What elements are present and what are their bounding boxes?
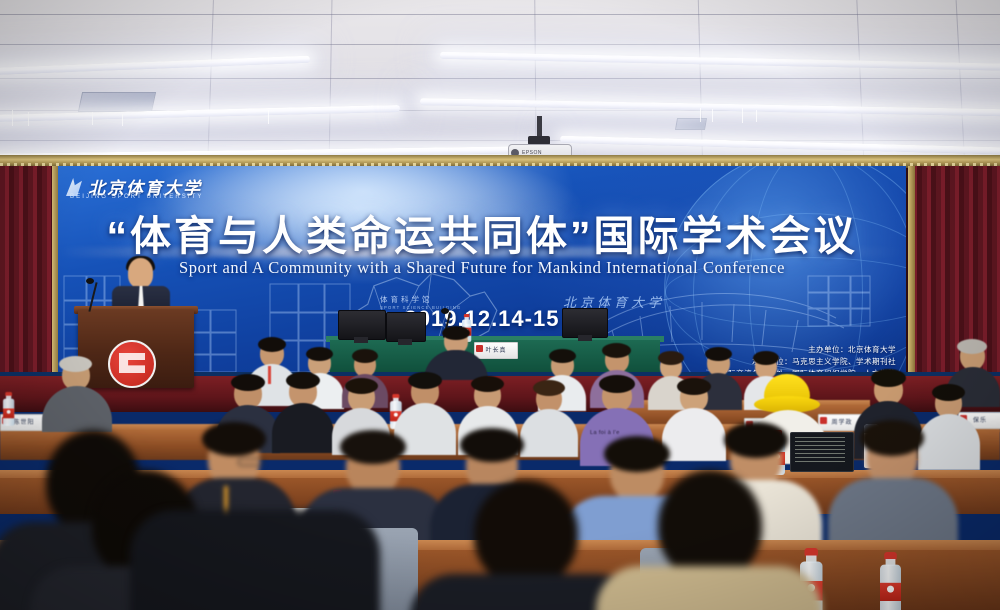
- speaker-head: [128, 258, 153, 288]
- microphone-head-icon: [441, 308, 449, 314]
- ceiling-light: [0, 56, 310, 76]
- bsu-logo-en: BEIJING SPORT UNIVERSITY: [70, 194, 204, 200]
- ceiling-vent: [675, 118, 707, 130]
- ceiling-light: [560, 136, 1000, 156]
- bucket-hat: [754, 374, 820, 414]
- ceiling-light: [0, 105, 400, 122]
- head-table-monitor: [562, 308, 608, 338]
- person-at-head-table: [424, 328, 488, 374]
- monitor-stand: [578, 335, 592, 341]
- conference-hall-photo: EPSON: [0, 0, 1000, 610]
- foreground-person: [130, 500, 380, 610]
- conference-title-en: Sport and A Community with a Shared Futu…: [58, 258, 906, 278]
- ceiling-light: [440, 52, 1000, 72]
- sweater-text: La foi à l'e: [590, 430, 620, 436]
- building-label-en: SPORT SCIENCE BUILDING: [380, 305, 461, 310]
- building-label-cn: 体育科学馆: [380, 294, 461, 305]
- ceiling-vent: [78, 92, 156, 112]
- ceiling-light: [420, 98, 1000, 117]
- head-table-monitor: [338, 310, 386, 340]
- monitor-stand: [354, 337, 368, 343]
- building-label: 体育科学馆 SPORT SCIENCE BUILDING: [380, 294, 461, 310]
- conference-title-cn: “体育与人类命运共同体”国际学术会议: [58, 202, 906, 262]
- podium-emblem-icon: [108, 340, 156, 388]
- foreground-person: [596, 470, 822, 610]
- podium-microphone-head-icon: [86, 278, 94, 284]
- eyeglasses: [238, 458, 264, 466]
- head-table-monitor: [386, 312, 426, 342]
- bsu-logo: 北京体育大学 BEIJING SPORT UNIVERSITY: [64, 172, 199, 206]
- ceiling: EPSON: [0, 0, 1000, 168]
- monitor-stand: [398, 339, 412, 345]
- audience-person-elder: [42, 360, 112, 430]
